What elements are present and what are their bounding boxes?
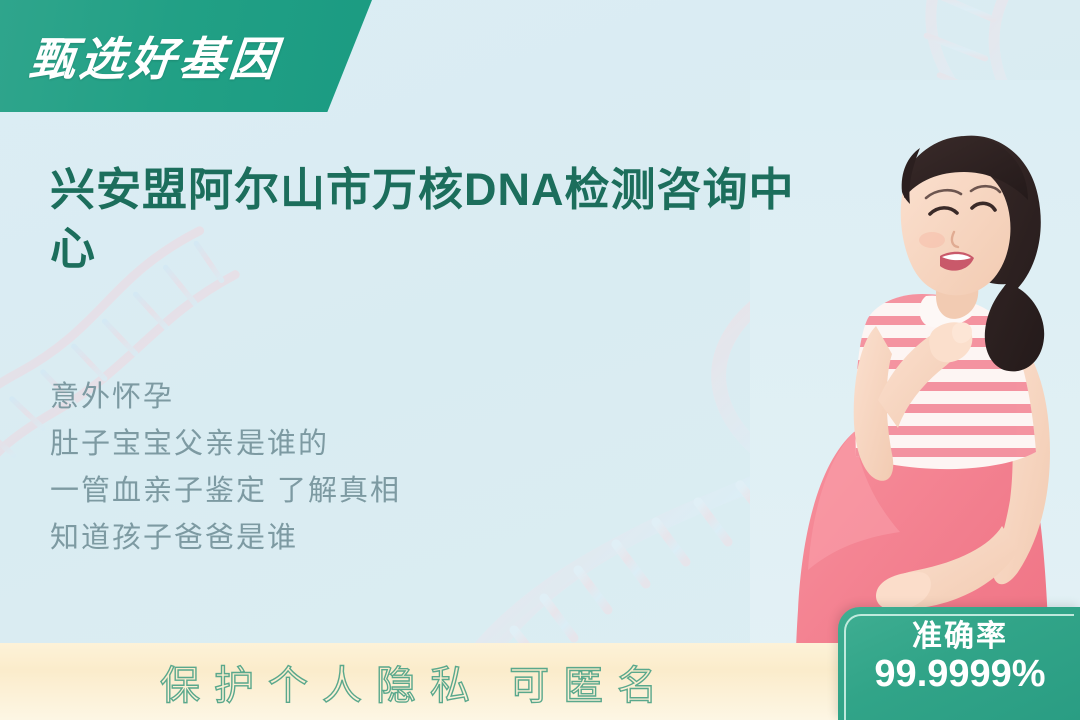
brand-logo-banner[interactable]: 甄选好基因 [0, 0, 372, 112]
promo-banner: 甄选好基因 兴安盟阿尔山市万核DNA检测咨询中心 意外怀孕 肚子宝宝父亲是谁的 … [0, 0, 1080, 720]
accuracy-label: 准确率 [912, 620, 1008, 654]
copy-line-1: 意外怀孕 [50, 374, 570, 421]
brand-logo-text: 甄选好基因 [27, 23, 284, 89]
accuracy-badge: 准确率 99.9999% [838, 607, 1080, 720]
page-title: 兴安盟阿尔山市万核DNA检测咨询中心 [50, 160, 830, 279]
copy-line-2: 肚子宝宝父亲是谁的 [50, 421, 570, 468]
copy-line-4: 知道孩子爸爸是谁 [50, 515, 570, 562]
copy-line-3: 一管血亲子鉴定 了解真相 [50, 468, 570, 515]
marketing-copy-list: 意外怀孕 肚子宝宝父亲是谁的 一管血亲子鉴定 了解真相 知道孩子爸爸是谁 [50, 374, 570, 562]
accuracy-value: 99.9999% [874, 654, 1045, 696]
privacy-footer-text: 保护个人隐私 可匿名 [160, 653, 671, 711]
accuracy-badge-inner: 准确率 99.9999% [844, 614, 1074, 720]
